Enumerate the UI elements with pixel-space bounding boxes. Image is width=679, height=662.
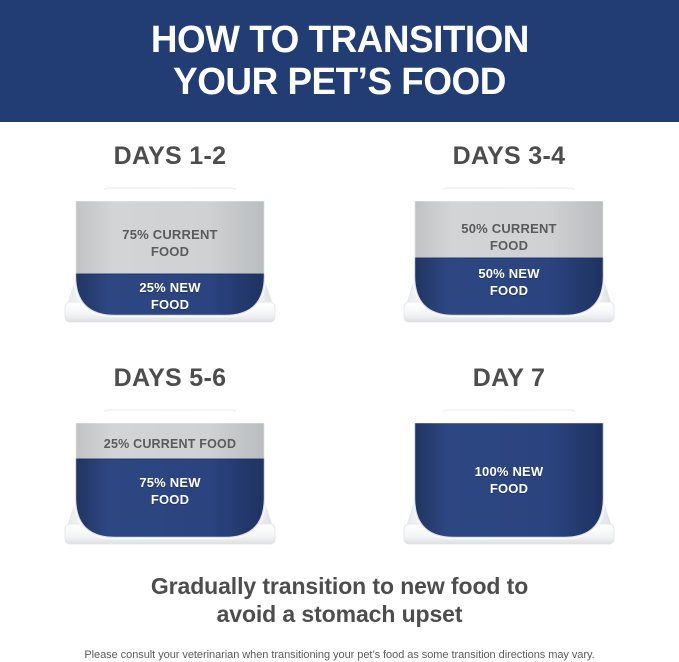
step-title: DAYS 5-6 — [0, 364, 340, 393]
step-title: DAYS 1-2 — [0, 142, 340, 171]
step-title: DAY 7 — [339, 364, 679, 393]
header-title-line2: YOUR PET’S FOOD — [173, 61, 506, 103]
step-title: DAYS 3-4 — [339, 142, 679, 171]
bowl-illustration — [59, 406, 281, 554]
step-card-days-3-4: DAYS 3-4 — [339, 122, 679, 344]
step-card-day-7: DAY 7 100% NEW FO — [339, 344, 679, 566]
footer-disclaimer: Please consult your veterinarian when tr… — [0, 648, 679, 662]
step-card-days-5-6: DAYS 5-6 — [0, 344, 340, 566]
food-bowl-day-7: 100% NEW FOOD — [398, 406, 620, 554]
footer-headline-line1: Gradually transition to new food to — [0, 572, 679, 600]
infographic-root: HOW TO TRANSITION YOUR PET’S FOOD DAYS 1… — [0, 0, 679, 662]
header-title-line1: HOW TO TRANSITION — [150, 19, 528, 61]
steps-grid: DAYS 1-2 — [0, 122, 679, 567]
food-bowl-days-1-2: 75% CURRENT FOOD 25% NEW FOOD — [59, 184, 281, 332]
bowl-illustration — [59, 184, 281, 332]
bowl-illustration — [398, 184, 620, 332]
food-bowl-days-5-6: 25% CURRENT FOOD 75% NEW FOOD — [59, 406, 281, 554]
header-banner: HOW TO TRANSITION YOUR PET’S FOOD — [0, 0, 679, 122]
bowl-illustration — [398, 406, 620, 554]
step-card-days-1-2: DAYS 1-2 — [0, 122, 340, 344]
footer-block: Gradually transition to new food to avoi… — [0, 572, 679, 662]
food-bowl-days-3-4: 50% CURRENT FOOD 50% NEW FOOD — [398, 184, 620, 332]
footer-headline-line2: avoid a stomach upset — [0, 600, 679, 628]
